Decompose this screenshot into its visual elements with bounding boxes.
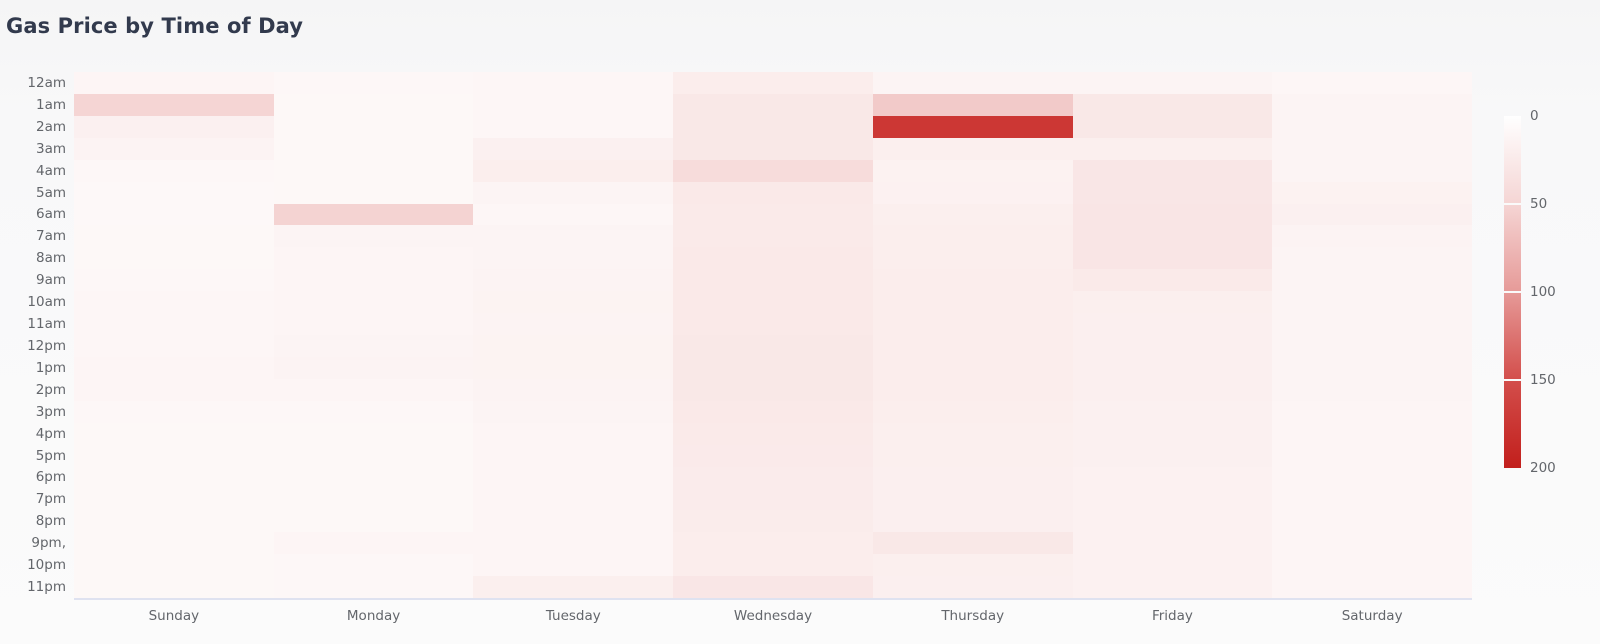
heatmap-cell[interactable] <box>673 182 873 205</box>
heatmap-cell[interactable] <box>74 160 274 183</box>
heatmap-cell[interactable] <box>1073 72 1273 95</box>
heatmap-cell[interactable] <box>74 204 274 227</box>
heatmap-cell[interactable] <box>473 423 673 446</box>
y-axis-tick-label: 10pm <box>0 557 66 573</box>
y-axis-tick-label: 2am <box>0 119 66 135</box>
heatmap-cell[interactable] <box>473 182 673 205</box>
heatmap-cell[interactable] <box>1272 225 1472 248</box>
heatmap-cell[interactable] <box>274 554 474 577</box>
colorbar-tick-separator <box>1504 291 1521 293</box>
heatmap-cell[interactable] <box>873 335 1073 358</box>
heatmap-cell[interactable] <box>1272 204 1472 227</box>
page-title: Gas Price by Time of Day <box>6 14 303 38</box>
y-axis-tick-label: 1pm <box>0 360 66 376</box>
heatmap-column <box>1272 72 1472 598</box>
heatmap-cell[interactable] <box>274 510 474 533</box>
heatmap-cell[interactable] <box>274 467 474 490</box>
heatmap-cell[interactable] <box>673 160 873 183</box>
heatmap-cell[interactable] <box>873 379 1073 402</box>
heatmap-cell[interactable] <box>673 138 873 161</box>
heatmap-cell[interactable] <box>673 116 873 139</box>
colorbar-tick-label: 50 <box>1530 196 1547 212</box>
heatmap-cell[interactable] <box>1272 379 1472 402</box>
heatmap-cell[interactable] <box>673 72 873 95</box>
heatmap-cell[interactable] <box>473 335 673 358</box>
heatmap-cell[interactable] <box>873 225 1073 248</box>
heatmap-cell[interactable] <box>473 401 673 424</box>
heatmap-cell[interactable] <box>673 291 873 314</box>
heatmap-cell[interactable] <box>473 510 673 533</box>
heatmap-cell[interactable] <box>473 204 673 227</box>
heatmap-cell[interactable] <box>274 423 474 446</box>
heatmap-cell[interactable] <box>274 182 474 205</box>
heatmap-cell[interactable] <box>473 116 673 139</box>
heatmap-cell[interactable] <box>274 313 474 336</box>
heatmap-cell[interactable] <box>473 72 673 95</box>
y-axis-tick-label: 9pm, <box>0 535 66 551</box>
y-axis-tick-label: 12pm <box>0 338 66 354</box>
heatmap-cell[interactable] <box>873 138 1073 161</box>
heatmap-cell[interactable] <box>1272 445 1472 468</box>
heatmap-cell[interactable] <box>1272 160 1472 183</box>
heatmap-cell[interactable] <box>74 291 274 314</box>
heatmap-cell[interactable] <box>673 94 873 117</box>
heatmap-cell[interactable] <box>274 204 474 227</box>
heatmap-cell[interactable] <box>74 532 274 555</box>
heatmap-cell[interactable] <box>1272 576 1472 599</box>
colorbar-tick-label: 150 <box>1530 372 1556 388</box>
heatmap-cell[interactable] <box>1073 182 1273 205</box>
x-axis-tick-label: Saturday <box>1342 608 1403 624</box>
heatmap-cell[interactable] <box>1272 72 1472 95</box>
heatmap-column <box>473 72 673 598</box>
heatmap-cell[interactable] <box>873 160 1073 183</box>
x-axis-tick-label: Friday <box>1152 608 1193 624</box>
heatmap-cell[interactable] <box>673 488 873 511</box>
heatmap-cell[interactable] <box>1272 138 1472 161</box>
heatmap-cell[interactable] <box>274 357 474 380</box>
heatmap-cell[interactable] <box>673 445 873 468</box>
y-axis-tick-label: 10am <box>0 294 66 310</box>
heatmap-cell[interactable] <box>873 510 1073 533</box>
heatmap-cell[interactable] <box>873 116 1073 139</box>
heatmap-cell[interactable] <box>1272 335 1472 358</box>
y-axis-tick-label: 8pm <box>0 513 66 529</box>
heatmap-cell[interactable] <box>1073 313 1273 336</box>
heatmap-cell[interactable] <box>473 379 673 402</box>
heatmap-cell[interactable] <box>74 401 274 424</box>
heatmap-cell[interactable] <box>74 445 274 468</box>
heatmap-cell[interactable] <box>873 313 1073 336</box>
heatmap-cell[interactable] <box>74 510 274 533</box>
y-axis-tick-label: 12am <box>0 75 66 91</box>
heatmap-cell[interactable] <box>673 269 873 292</box>
heatmap-cell[interactable] <box>1073 357 1273 380</box>
heatmap-cell[interactable] <box>1272 116 1472 139</box>
heatmap-cell[interactable] <box>873 488 1073 511</box>
heatmap-cell[interactable] <box>873 554 1073 577</box>
heatmap-cell[interactable] <box>873 423 1073 446</box>
heatmap-cell[interactable] <box>74 576 274 599</box>
heatmap-cell[interactable] <box>1272 401 1472 424</box>
heatmap-cell[interactable] <box>673 576 873 599</box>
heatmap-cell[interactable] <box>74 488 274 511</box>
heatmap-cell[interactable] <box>673 313 873 336</box>
heatmap-cell[interactable] <box>74 423 274 446</box>
x-axis-tick-label: Monday <box>347 608 400 624</box>
heatmap-cell[interactable] <box>1073 554 1273 577</box>
heatmap-cell[interactable] <box>473 269 673 292</box>
heatmap-cell[interactable] <box>873 291 1073 314</box>
heatmap-cell[interactable] <box>1272 467 1472 490</box>
y-axis: 12am1am2am3am4am5am6am7am8am9am10am11am1… <box>0 72 66 598</box>
heatmap-cell[interactable] <box>1073 225 1273 248</box>
colorbar-gradient <box>1504 116 1521 468</box>
heatmap-cell[interactable] <box>1272 182 1472 205</box>
heatmap-cell[interactable] <box>873 401 1073 424</box>
heatmap-cell[interactable] <box>473 291 673 314</box>
heatmap-cell[interactable] <box>873 269 1073 292</box>
y-axis-tick-label: 7pm <box>0 491 66 507</box>
heatmap-column <box>873 72 1073 598</box>
heatmap-cell[interactable] <box>274 445 474 468</box>
heatmap-cell[interactable] <box>873 72 1073 95</box>
heatmap-cell[interactable] <box>74 269 274 292</box>
heatmap-cell[interactable] <box>1272 313 1472 336</box>
heatmap-chart: Gas Price by Time of Day 12am1am2am3am4a… <box>0 0 1600 644</box>
y-axis-tick-label: 4pm <box>0 426 66 442</box>
heatmap-cell[interactable] <box>673 225 873 248</box>
heatmap-cell[interactable] <box>274 488 474 511</box>
heatmap-plot-area[interactable] <box>74 72 1472 598</box>
heatmap-cell[interactable] <box>473 445 673 468</box>
heatmap-cell[interactable] <box>1272 423 1472 446</box>
y-axis-tick-label: 3am <box>0 141 66 157</box>
heatmap-cell[interactable] <box>74 72 274 95</box>
heatmap-cell[interactable] <box>1073 291 1273 314</box>
colorbar-tick-separator <box>1504 379 1521 381</box>
colorbar-tick-label: 100 <box>1530 284 1556 300</box>
heatmap-cell[interactable] <box>1073 401 1273 424</box>
heatmap-column <box>74 72 274 598</box>
heatmap-cell[interactable] <box>473 160 673 183</box>
y-axis-tick-label: 4am <box>0 163 66 179</box>
heatmap-cell[interactable] <box>274 138 474 161</box>
heatmap-cell[interactable] <box>74 138 274 161</box>
heatmap-cell[interactable] <box>1073 94 1273 117</box>
heatmap-cell[interactable] <box>673 532 873 555</box>
heatmap-cell[interactable] <box>1073 116 1273 139</box>
heatmap-cell[interactable] <box>473 247 673 270</box>
heatmap-cell[interactable] <box>673 510 873 533</box>
y-axis-tick-label: 6am <box>0 206 66 222</box>
heatmap-cell[interactable] <box>274 160 474 183</box>
heatmap-cell[interactable] <box>473 313 673 336</box>
heatmap-cell[interactable] <box>274 225 474 248</box>
heatmap-cell[interactable] <box>74 225 274 248</box>
heatmap-cell[interactable] <box>1272 94 1472 117</box>
colorbar-segment <box>1504 116 1521 204</box>
heatmap-cell[interactable] <box>1073 204 1273 227</box>
heatmap-cell[interactable] <box>1272 554 1472 577</box>
heatmap-cell[interactable] <box>74 335 274 358</box>
colorbar-segment <box>1504 380 1521 468</box>
heatmap-cell[interactable] <box>1073 467 1273 490</box>
colorbar-tick-label: 0 <box>1530 108 1539 124</box>
heatmap-cell[interactable] <box>274 247 474 270</box>
heatmap-cell[interactable] <box>274 291 474 314</box>
x-axis: SundayMondayTuesdayWednesdayThursdayFrid… <box>74 600 1472 644</box>
heatmap-cell[interactable] <box>473 532 673 555</box>
heatmap-cell[interactable] <box>74 313 274 336</box>
heatmap-cell[interactable] <box>74 379 274 402</box>
heatmap-cell[interactable] <box>873 94 1073 117</box>
x-axis-tick-label: Tuesday <box>546 608 601 624</box>
heatmap-cell[interactable] <box>274 94 474 117</box>
heatmap-cell[interactable] <box>1272 510 1472 533</box>
heatmap-cell[interactable] <box>274 379 474 402</box>
heatmap-cell[interactable] <box>473 357 673 380</box>
heatmap-cell[interactable] <box>673 247 873 270</box>
heatmap-cell[interactable] <box>1073 160 1273 183</box>
heatmap-cell[interactable] <box>274 576 474 599</box>
heatmap-cell[interactable] <box>74 247 274 270</box>
heatmap-cell[interactable] <box>673 554 873 577</box>
heatmap-cell[interactable] <box>873 467 1073 490</box>
heatmap-cell[interactable] <box>74 554 274 577</box>
heatmap-cell[interactable] <box>74 94 274 117</box>
colorbar-tick-separator <box>1504 203 1521 205</box>
colorbar-tick-label: 200 <box>1530 460 1556 476</box>
heatmap-cell[interactable] <box>1073 488 1273 511</box>
heatmap-cell[interactable] <box>1073 335 1273 358</box>
heatmap-cell[interactable] <box>873 204 1073 227</box>
y-axis-tick-label: 2pm <box>0 382 66 398</box>
heatmap-cell[interactable] <box>274 116 474 139</box>
colorbar-segment <box>1504 292 1521 380</box>
y-axis-tick-label: 7am <box>0 228 66 244</box>
heatmap-cell[interactable] <box>673 204 873 227</box>
heatmap-cell[interactable] <box>473 138 673 161</box>
heatmap-cell[interactable] <box>473 94 673 117</box>
heatmap-cell[interactable] <box>473 488 673 511</box>
heatmap-cell[interactable] <box>274 72 474 95</box>
heatmap-cell[interactable] <box>673 335 873 358</box>
x-axis-tick-label: Sunday <box>149 608 200 624</box>
heatmap-cell[interactable] <box>873 445 1073 468</box>
heatmap-cell[interactable] <box>473 554 673 577</box>
heatmap-cell[interactable] <box>473 576 673 599</box>
heatmap-cell[interactable] <box>74 182 274 205</box>
heatmap-cell[interactable] <box>873 247 1073 270</box>
heatmap-cell[interactable] <box>673 379 873 402</box>
heatmap-cell[interactable] <box>74 116 274 139</box>
y-axis-tick-label: 9am <box>0 272 66 288</box>
heatmap-cell[interactable] <box>1073 423 1273 446</box>
heatmap-cell[interactable] <box>274 532 474 555</box>
heatmap-cell[interactable] <box>1073 576 1273 599</box>
heatmap-cell[interactable] <box>274 269 474 292</box>
heatmap-cell[interactable] <box>74 357 274 380</box>
heatmap-cell[interactable] <box>274 335 474 358</box>
heatmap-cell[interactable] <box>1272 269 1472 292</box>
heatmap-cell[interactable] <box>1073 510 1273 533</box>
heatmap-cell[interactable] <box>1272 247 1472 270</box>
y-axis-tick-label: 1am <box>0 97 66 113</box>
heatmap-cell[interactable] <box>873 182 1073 205</box>
heatmap-cell[interactable] <box>1272 291 1472 314</box>
heatmap-column <box>274 72 474 598</box>
y-axis-tick-label: 6pm <box>0 469 66 485</box>
heatmap-cell[interactable] <box>673 401 873 424</box>
y-axis-tick-label: 11pm <box>0 579 66 595</box>
y-axis-tick-label: 5pm <box>0 448 66 464</box>
heatmap-cell[interactable] <box>1272 357 1472 380</box>
heatmap-cell[interactable] <box>1272 532 1472 555</box>
heatmap-cell[interactable] <box>1073 247 1273 270</box>
y-axis-tick-label: 8am <box>0 250 66 266</box>
heatmap-cell[interactable] <box>1073 379 1273 402</box>
y-axis-tick-label: 11am <box>0 316 66 332</box>
heatmap-cell[interactable] <box>74 467 274 490</box>
x-axis-tick-label: Thursday <box>941 608 1004 624</box>
heatmap-cell[interactable] <box>1272 488 1472 511</box>
heatmap-cell[interactable] <box>873 532 1073 555</box>
y-axis-tick-label: 3pm <box>0 404 66 420</box>
heatmap-cell[interactable] <box>673 357 873 380</box>
heatmap-cell[interactable] <box>673 423 873 446</box>
colorbar-segment <box>1504 204 1521 292</box>
heatmap-cell[interactable] <box>873 576 1073 599</box>
heatmap-cell[interactable] <box>873 357 1073 380</box>
heatmap-cell[interactable] <box>1073 445 1273 468</box>
heatmap-cell[interactable] <box>274 401 474 424</box>
x-axis-tick-label: Wednesday <box>734 608 812 624</box>
heatmap-cell[interactable] <box>1073 138 1273 161</box>
heatmap-cell[interactable] <box>1073 269 1273 292</box>
heatmap-cell[interactable] <box>1073 532 1273 555</box>
heatmap-cell[interactable] <box>473 467 673 490</box>
heatmap-column <box>673 72 873 598</box>
heatmap-cell[interactable] <box>473 225 673 248</box>
y-axis-tick-label: 5am <box>0 185 66 201</box>
heatmap-column <box>1073 72 1273 598</box>
heatmap-cell[interactable] <box>673 467 873 490</box>
